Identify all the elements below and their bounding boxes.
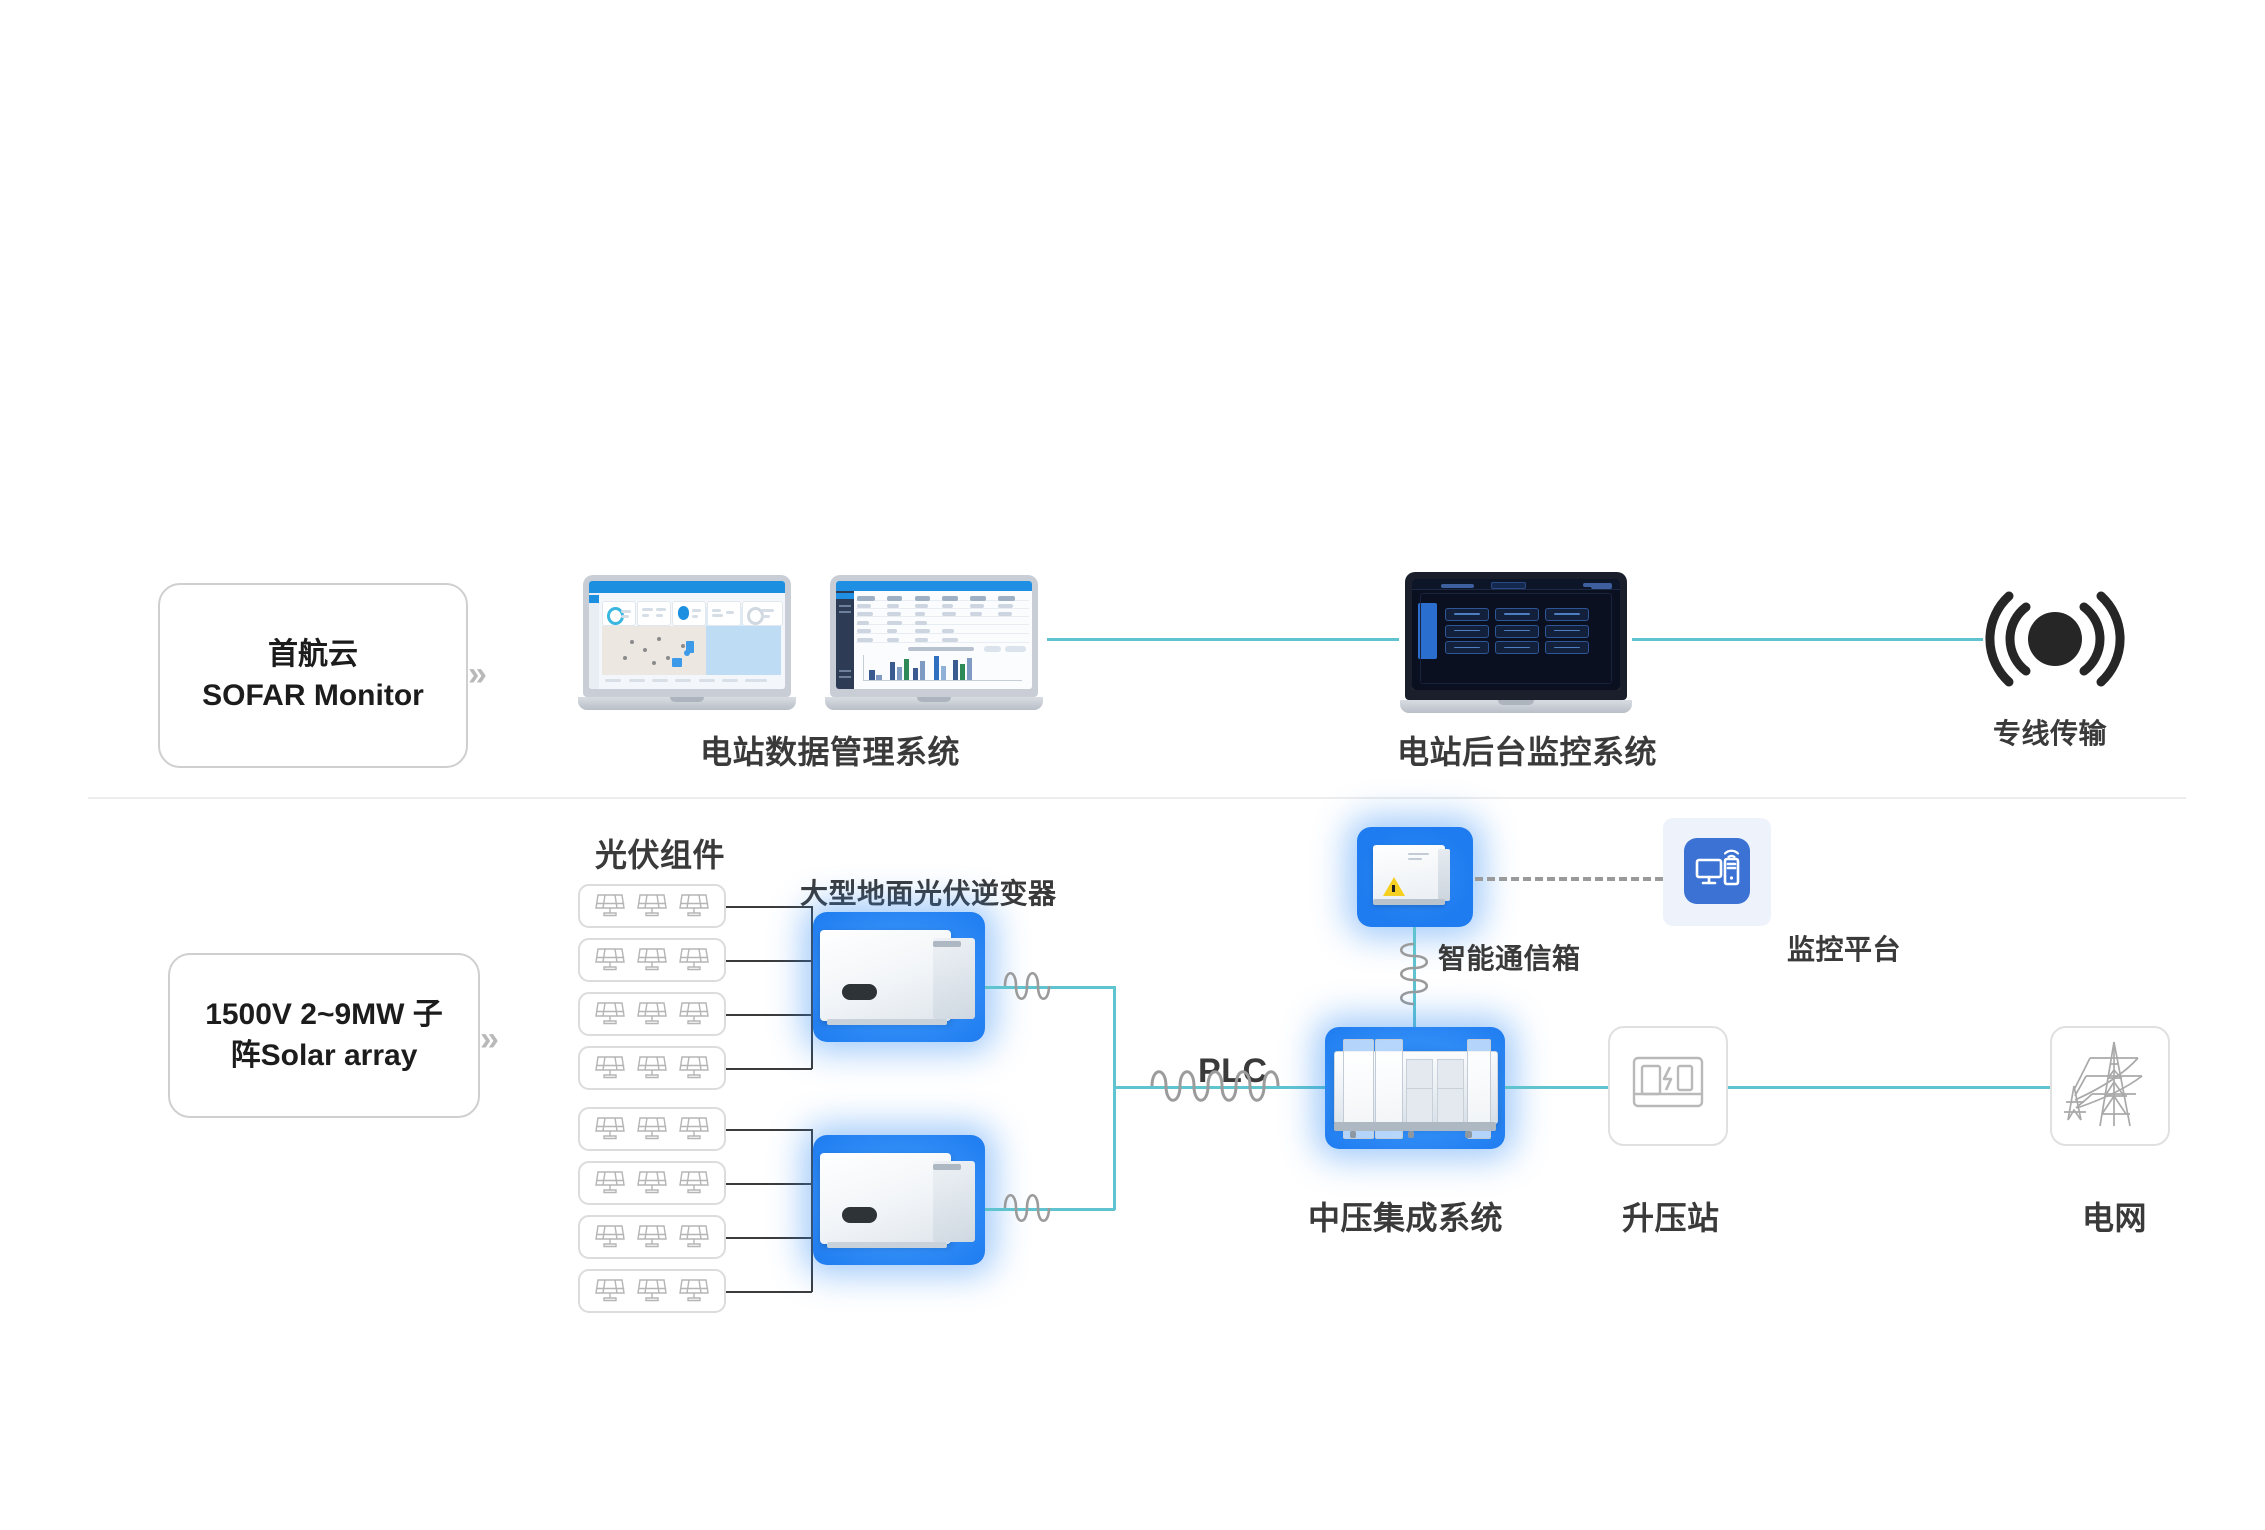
solar-panel-icon [637, 1114, 667, 1144]
pv-branch-line [726, 1183, 812, 1185]
laptop-screen-dark [1412, 579, 1620, 690]
array-line1: 1500V 2~9MW 子 [205, 998, 443, 1031]
label-grid: 电网 [2082, 1193, 2147, 1239]
label-inverter: 大型地面光伏逆变器 [800, 872, 1057, 912]
solar-panel-icon [679, 945, 709, 975]
cloud-line1: 首航云 [268, 638, 358, 671]
link-mv-to-booster [1505, 1086, 1610, 1089]
inverter-body [820, 1153, 951, 1244]
screen-grid-button[interactable] [1495, 625, 1539, 638]
screen-grid-button[interactable] [1445, 625, 1489, 638]
desktop-wifi-icon [1684, 838, 1750, 904]
comm-box-side [1438, 849, 1450, 901]
screen-bar-chart [856, 646, 1029, 687]
label-monitor-platform: 监控平台 [1787, 928, 1901, 968]
mv-base-rail [1334, 1122, 1496, 1131]
coil-inductor-icon-vertical [1392, 940, 1436, 1019]
screen-map [602, 626, 781, 675]
screen-grid-button[interactable] [1545, 625, 1589, 638]
screen-grid-button[interactable] [1495, 608, 1539, 621]
pv-module-card [578, 1215, 726, 1259]
pv-module-card [578, 1046, 726, 1090]
inverter-brand-mark [933, 1164, 961, 1171]
pv-module-card [578, 1107, 726, 1151]
laptop-screen-table [836, 581, 1032, 689]
screen-stat-cards [602, 596, 781, 624]
label-booster-station: 升压站 [1622, 1193, 1720, 1239]
stage-box-cloud-text: 首航云 SOFAR Monitor [184, 635, 442, 716]
cloud-line2: SOFAR Monitor [202, 679, 424, 712]
solar-panel-icon [679, 1168, 709, 1198]
label-mv-system: 中压集成系统 [1308, 1193, 1503, 1239]
switchgear-icon [1610, 1028, 1726, 1144]
chevron-right-icon-array: » [480, 1022, 499, 1056]
solar-panel-icon [637, 891, 667, 921]
coil-inductor-icon [1001, 965, 1059, 1012]
screen-topbar [836, 581, 1032, 591]
solar-panel-icon [637, 1053, 667, 1083]
solar-panel-icon [595, 1168, 625, 1198]
pv-module-card [578, 938, 726, 982]
solar-panel-icon [637, 1168, 667, 1198]
pv-branch-line [726, 1291, 812, 1293]
pv-branch-line [726, 1237, 812, 1239]
solar-panel-icon [637, 1222, 667, 1252]
solar-panel-icon [679, 999, 709, 1029]
coil-inductor-icon [1001, 1187, 1059, 1234]
inverter-vent [842, 984, 876, 1001]
screen-grid-button[interactable] [1445, 608, 1489, 621]
pv-branch-line [726, 1068, 812, 1070]
screen-grid-button[interactable] [1445, 641, 1489, 654]
mv-support [1408, 1131, 1414, 1138]
label-comm-box: 智能通信箱 [1438, 937, 1581, 977]
solar-panel-icon [595, 1114, 625, 1144]
solar-panel-icon [679, 1276, 709, 1306]
solar-panel-icon [679, 891, 709, 921]
warning-triangle-icon [1383, 877, 1405, 896]
laptop-backend-monitor [1400, 572, 1632, 724]
mv-system-tile [1325, 1027, 1505, 1149]
solar-panel-icon [595, 891, 625, 921]
transmission-tower-icon [2052, 1028, 2168, 1144]
mv-support [1465, 1131, 1471, 1138]
laptop-screen-dashboard [589, 581, 785, 689]
pv-branch-line [726, 1014, 812, 1016]
pv-branch-line [726, 1129, 812, 1131]
screen-topbar [589, 581, 785, 593]
broadcast-signal-icon [1985, 583, 2125, 695]
inverter-body [820, 930, 951, 1021]
solar-panel-icon [679, 1114, 709, 1144]
solar-panel-icon [595, 945, 625, 975]
laptop-data-management [578, 575, 796, 721]
solar-panel-icon [637, 1276, 667, 1306]
comm-box-base [1373, 899, 1445, 905]
solar-panel-icon [637, 945, 667, 975]
label-pv-modules: 光伏组件 [595, 830, 725, 876]
inverter-base [827, 1242, 947, 1249]
inverter-base [827, 1019, 947, 1026]
screen-table [856, 593, 1029, 645]
solar-panel-icon [595, 1053, 625, 1083]
mv-grill [1437, 1088, 1464, 1127]
stage-box-cloud: 首航云 SOFAR Monitor [158, 583, 468, 768]
mv-grill [1406, 1088, 1433, 1127]
label-backend-monitoring-system: 电站后台监控系统 [1397, 727, 1657, 773]
screen-footer-row [602, 677, 781, 686]
chevron-right-icon-cloud: » [468, 657, 487, 691]
laptop-data-table [825, 575, 1043, 721]
screen-tab[interactable] [1491, 582, 1526, 590]
system-architecture-diagram: 首航云 SOFAR Monitor » [0, 0, 2265, 1530]
screen-grid-button[interactable] [1545, 641, 1589, 654]
stage-box-array-text: 1500V 2~9MW 子 阵Solar array [187, 995, 461, 1076]
pv-module-card [578, 884, 726, 928]
solar-panel-icon [595, 1222, 625, 1252]
laptop-lid [830, 575, 1038, 697]
inverter-heatsink [933, 938, 974, 1019]
laptop-notch [1498, 700, 1534, 705]
screen-sidebar [589, 593, 599, 689]
inverter-tile-b [813, 1135, 985, 1265]
pv-module-card [578, 992, 726, 1036]
solar-panel-icon [679, 1222, 709, 1252]
grid-tile [2050, 1026, 2170, 1146]
label-dedicated-line: 专线传输 [1993, 712, 2107, 752]
laptop-lid-dark [1405, 572, 1627, 700]
inverter-brand-mark [933, 941, 961, 948]
section-divider [88, 797, 2186, 799]
solar-panel-icon [679, 1053, 709, 1083]
laptop-notch [917, 697, 951, 702]
laptop-notch [670, 697, 704, 702]
mv-support [1350, 1131, 1356, 1138]
inverter-tile-a [813, 912, 985, 1042]
coil-inductor-icon-plc [1147, 1062, 1297, 1115]
laptop-lid [583, 575, 791, 697]
stage-box-solar-array: 1500V 2~9MW 子 阵Solar array [168, 953, 480, 1118]
pv-branch-line [726, 960, 812, 962]
collector-bus [1113, 986, 1116, 1210]
booster-station-tile [1608, 1026, 1728, 1146]
array-line2: 阵Solar array [231, 1039, 418, 1072]
screen-grid-button[interactable] [1495, 641, 1539, 654]
link-laptop-to-monitor [1047, 638, 1399, 641]
comm-box-tile [1357, 827, 1473, 927]
label-data-management-system: 电站数据管理系统 [700, 727, 960, 773]
screen-grid-button[interactable] [1545, 608, 1589, 621]
pv-module-card [578, 1269, 726, 1313]
inverter-heatsink [933, 1161, 974, 1242]
link-monitor-to-broadcast [1632, 638, 1983, 641]
solar-panel-icon [595, 1276, 625, 1306]
solar-panel-icon [637, 999, 667, 1029]
link-booster-to-grid [1728, 1086, 2055, 1089]
solar-panel-icon [595, 999, 625, 1029]
inverter-vent [842, 1207, 876, 1224]
pv-module-card [578, 1161, 726, 1205]
link-commbox-to-platform [1475, 877, 1663, 881]
